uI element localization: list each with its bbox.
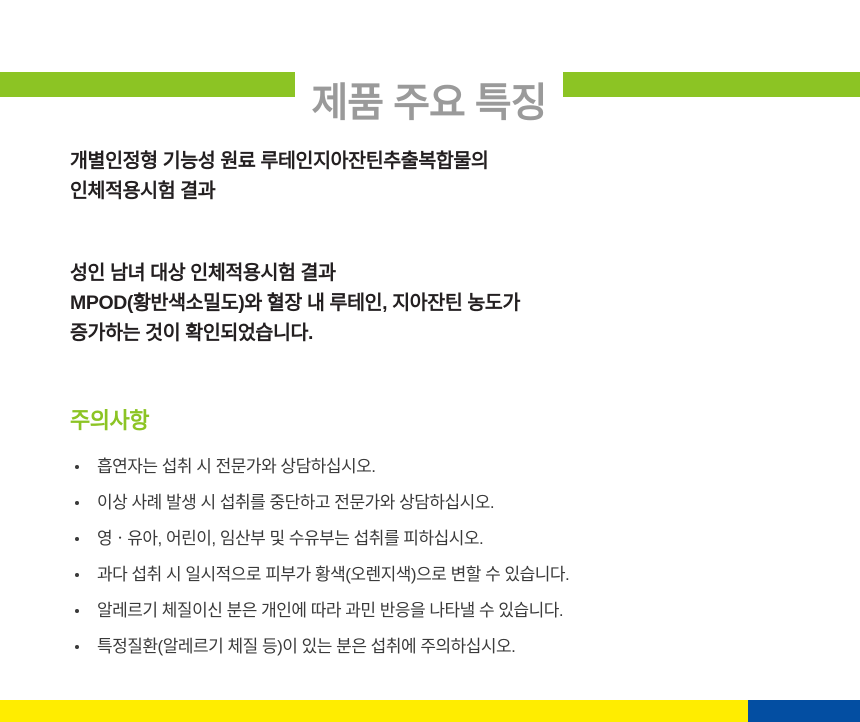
bullet-icon xyxy=(75,501,79,505)
footer-bar-yellow xyxy=(0,700,748,722)
lead-paragraph-line: 인체적용시험 결과 xyxy=(70,176,810,206)
bullet-icon xyxy=(75,465,79,469)
list-item: 알레르기 체질이신 분은 개인에 따라 과민 반응을 나타낼 수 있습니다. xyxy=(70,600,810,622)
result-paragraph-line: 성인 남녀 대상 인체적용시험 결과 xyxy=(70,258,810,288)
bullet-icon xyxy=(75,645,79,649)
lead-paragraph-line: 개별인정형 기능성 원료 루테인지아잔틴추출복합물의 xyxy=(70,146,810,176)
page-title: 제품 주요 특징 xyxy=(295,79,563,127)
list-item: 이상 사례 발생 시 섭취를 중단하고 전문가와 상담하십시오. xyxy=(70,492,810,514)
result-paragraph: 성인 남녀 대상 인체적용시험 결과 MPOD(황반색소밀도)와 혈장 내 루테… xyxy=(70,258,810,348)
page-footer xyxy=(0,700,860,722)
list-item-label: 흡연자는 섭취 시 전문가와 상담하십시오. xyxy=(97,457,376,476)
main-content: 개별인정형 기능성 원료 루테인지아잔틴추출복합물의 인체적용시험 결과 성인 … xyxy=(70,146,810,348)
bullet-icon xyxy=(75,573,79,577)
caution-section: 주의사항 흡연자는 섭취 시 전문가와 상담하십시오. 이상 사례 발생 시 섭… xyxy=(70,408,810,658)
list-item: 특정질환(알레르기 체질 등)이 있는 분은 섭취에 주의하십시오. xyxy=(70,636,810,658)
bullet-icon xyxy=(75,609,79,613)
title-rule-left xyxy=(0,72,295,97)
page-header: 제품 주요 특징 xyxy=(0,0,860,130)
caution-list: 흡연자는 섭취 시 전문가와 상담하십시오. 이상 사례 발생 시 섭취를 중단… xyxy=(70,456,810,658)
footer-bar-blue xyxy=(748,700,860,722)
list-item: 흡연자는 섭취 시 전문가와 상담하십시오. xyxy=(70,456,810,478)
title-rule-right xyxy=(563,72,860,97)
result-paragraph-line: 증가하는 것이 확인되었습니다. xyxy=(70,318,810,348)
list-item-label: 특정질환(알레르기 체질 등)이 있는 분은 섭취에 주의하십시오. xyxy=(97,637,515,656)
list-item: 영ㆍ유아, 어린이, 임산부 및 수유부는 섭취를 피하십시오. xyxy=(70,528,810,550)
lead-paragraph: 개별인정형 기능성 원료 루테인지아잔틴추출복합물의 인체적용시험 결과 xyxy=(70,146,810,206)
list-item: 과다 섭취 시 일시적으로 피부가 황색(오렌지색)으로 변할 수 있습니다. xyxy=(70,564,810,586)
bullet-icon xyxy=(75,537,79,541)
list-item-label: 과다 섭취 시 일시적으로 피부가 황색(오렌지색)으로 변할 수 있습니다. xyxy=(97,565,569,584)
result-paragraph-line: MPOD(황반색소밀도)와 혈장 내 루테인, 지아잔틴 농도가 xyxy=(70,288,810,318)
list-item-label: 영ㆍ유아, 어린이, 임산부 및 수유부는 섭취를 피하십시오. xyxy=(97,529,483,548)
list-item-label: 이상 사례 발생 시 섭취를 중단하고 전문가와 상담하십시오. xyxy=(97,493,494,512)
list-item-label: 알레르기 체질이신 분은 개인에 따라 과민 반응을 나타낼 수 있습니다. xyxy=(97,601,563,620)
caution-heading: 주의사항 xyxy=(70,408,810,434)
